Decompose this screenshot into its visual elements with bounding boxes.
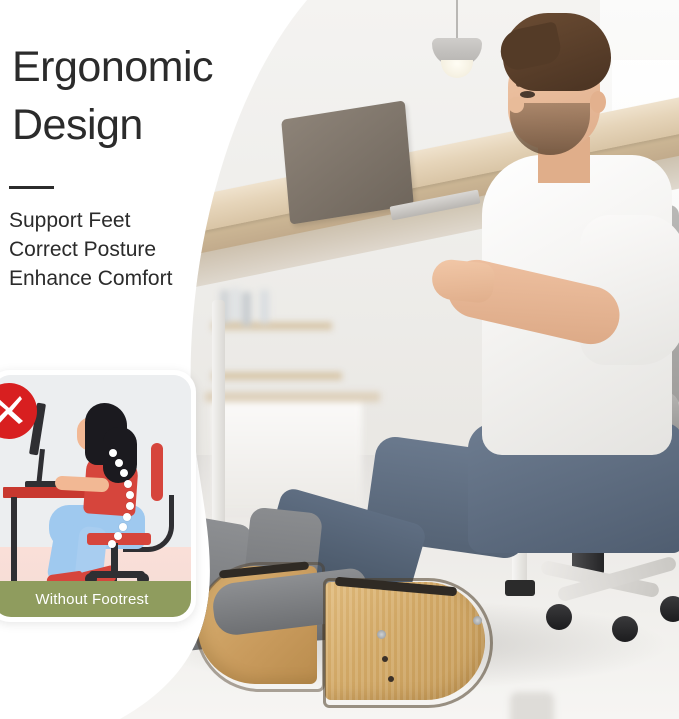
background-book [231, 288, 240, 322]
benefit-item: Correct Posture [9, 235, 249, 264]
person-eye [520, 91, 535, 98]
benefit-list: Support Feet Correct Posture Enhance Com… [9, 206, 249, 293]
background-shelf-top [212, 322, 332, 330]
spine-dot [123, 513, 131, 521]
illustration-person-arm [55, 476, 110, 493]
benefit-item: Enhance Comfort [9, 264, 249, 293]
footrest-screw [377, 630, 386, 639]
benefit-item: Support Feet [9, 206, 249, 235]
title-divider [9, 186, 54, 189]
footrest-adjust-hole [388, 676, 394, 682]
spine-dot [114, 532, 122, 540]
bad-posture-illustration [0, 375, 191, 581]
spine-dot [108, 540, 116, 548]
person-ear [590, 91, 606, 113]
red-x-cross-icon [0, 383, 37, 439]
headline-line-2: Design [12, 96, 282, 154]
spine-dot [109, 449, 117, 457]
background-desk [205, 392, 380, 402]
illustration-chair-caster [85, 573, 97, 581]
illustration-desk-leg [11, 497, 17, 581]
illustration-chair-caster [137, 573, 149, 581]
background-book [242, 292, 251, 326]
background-book [260, 290, 269, 324]
footrest-screw [473, 616, 482, 625]
footrest-rim-right [323, 578, 493, 708]
person-seated [430, 5, 679, 645]
headline-line-1: Ergonomic [12, 38, 282, 96]
card-caption: Without Footrest [0, 581, 191, 617]
background-chair [500, 692, 570, 719]
person-hand [430, 258, 496, 304]
person-nose [508, 97, 524, 113]
spine-dot [126, 491, 134, 499]
spine-dot [115, 459, 123, 467]
illustration-chair-backrest [151, 443, 163, 501]
product-feature-banner: Ergonomic Design Support Feet Correct Po… [0, 0, 679, 719]
without-footrest-card: Without Footrest [0, 370, 196, 622]
spine-dot [124, 480, 132, 488]
spine-dot [119, 523, 127, 531]
footrest-adjust-hole [382, 656, 388, 662]
page-title: Ergonomic Design [12, 38, 282, 154]
bamboo-footrest-product [205, 560, 505, 700]
spine-dot [126, 502, 134, 510]
background-shelf-lower [212, 372, 342, 380]
spine-dot [120, 469, 128, 477]
